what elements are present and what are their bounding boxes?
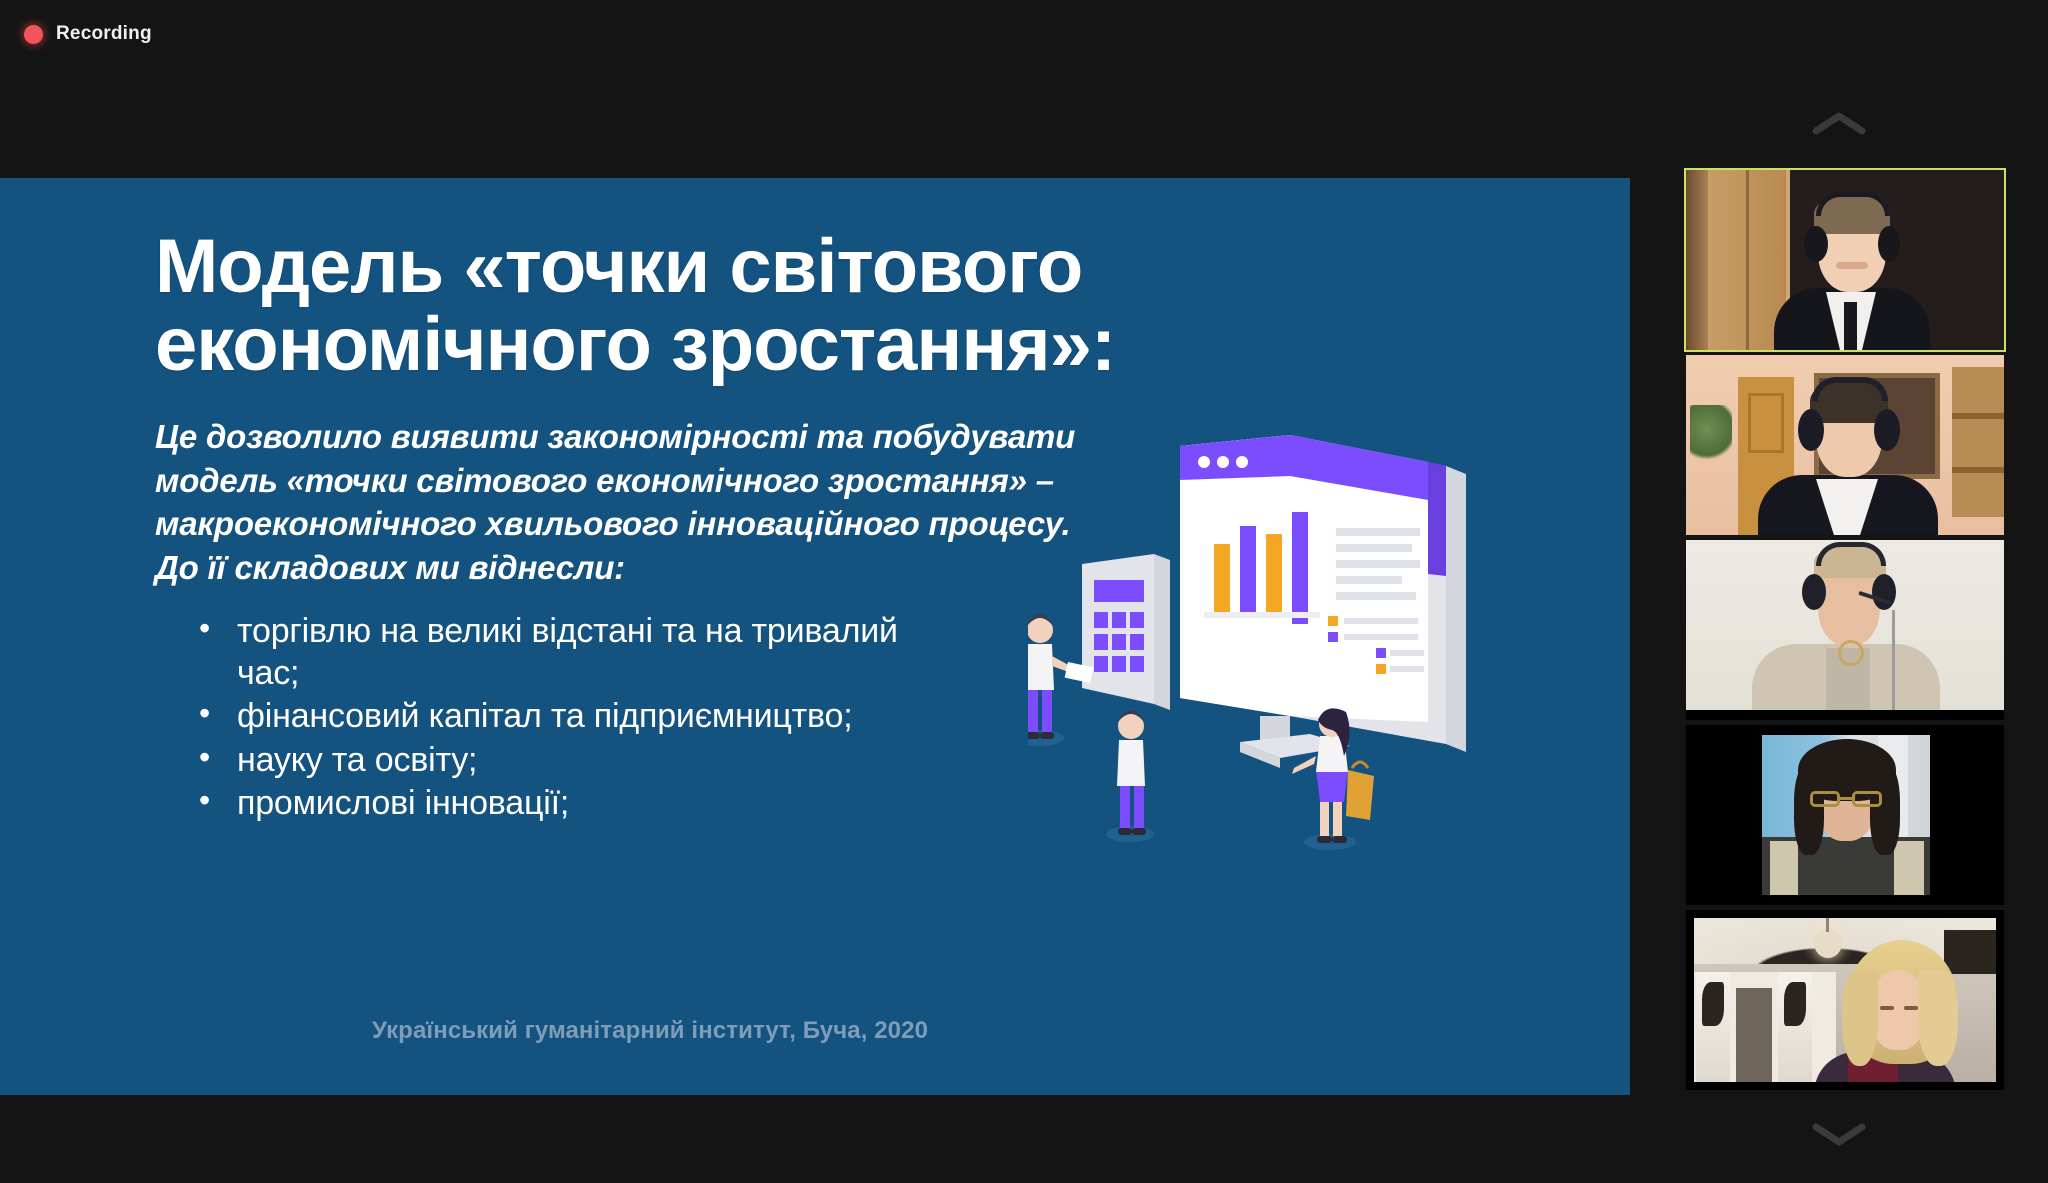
slide-title: Модель «точки світового економічного зро… bbox=[155, 228, 1335, 383]
participant-video-1 bbox=[1686, 170, 2004, 350]
slide-bullet-item: торгівлю на великі відстані та на тривал… bbox=[195, 611, 915, 694]
slide-bullet-item: фінансовий капітал та підприємництво; bbox=[195, 696, 915, 737]
slide-footer-attribution: Український гуманітарний інститут, Буча,… bbox=[0, 1017, 1630, 1045]
participant-tile-1[interactable] bbox=[1686, 170, 2004, 350]
chevron-down-icon bbox=[1810, 1119, 1868, 1149]
participant-video-4 bbox=[1686, 725, 2004, 905]
participant-video-3 bbox=[1686, 540, 2004, 720]
participant-thumbnail-list bbox=[1686, 170, 2004, 1095]
isometric-analytics-illustration bbox=[1028, 416, 1498, 856]
participant-video-2 bbox=[1686, 355, 2004, 535]
filmstrip-scroll-down-button[interactable] bbox=[1630, 1096, 2048, 1172]
participant-tile-2[interactable] bbox=[1686, 355, 2004, 535]
recording-indicator: Recording bbox=[24, 20, 152, 48]
shared-screen-slide[interactable]: Модель «точки світового економічного зро… bbox=[0, 178, 1630, 1095]
participant-video-5 bbox=[1686, 910, 2004, 1090]
illustration-svg bbox=[1028, 416, 1498, 856]
participant-tile-3[interactable] bbox=[1686, 540, 2004, 720]
slide-lead-paragraph: Це дозволило виявити закономірності та п… bbox=[155, 415, 1115, 589]
slide-bullet-list: торгівлю на великі відстані та на тривал… bbox=[155, 611, 915, 824]
recording-label: Recording bbox=[56, 23, 152, 45]
recording-dot-icon bbox=[24, 25, 43, 44]
chevron-up-icon bbox=[1810, 109, 1868, 139]
participant-tile-4[interactable] bbox=[1686, 725, 2004, 905]
slide-bullet-item: науку та освіту; bbox=[195, 740, 915, 781]
participant-tile-5[interactable] bbox=[1686, 910, 2004, 1090]
slide-bullet-item: промислові інновації; bbox=[195, 783, 915, 824]
filmstrip-scroll-up-button[interactable] bbox=[1630, 86, 2048, 162]
